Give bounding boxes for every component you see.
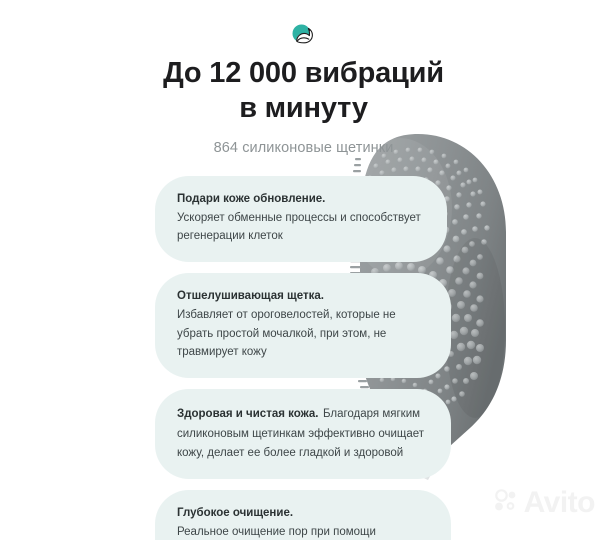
feature-body: Ускоряет обменные процессы и способствуе… [177,209,425,246]
feature-card: Глубокое очищение. Реальное очищение пор… [155,490,451,540]
swan-logo-icon [289,22,319,50]
header: До 12 000 вибраций в минуту 864 силиконо… [0,0,607,156]
feature-title: Глубокое очищение. [177,505,429,523]
avito-watermark-label: Avito [524,488,595,518]
feature-list: Подари коже обновление. Ускоряет обменны… [155,176,451,540]
page-subtitle: 864 силиконовые щетинки [0,140,607,156]
headline-line-1: До 12 000 вибраций [89,56,519,91]
avito-watermark: Avito [494,488,595,518]
feature-title: Подари коже обновление. [177,191,425,209]
feature-title: Здоровая и чистая кожа. [177,408,319,420]
product-infographic-page: До 12 000 вибраций в минуту 864 силиконо… [0,0,607,540]
headline-line-2: в минуту [89,91,519,126]
avito-logo-icon [494,489,520,518]
feature-title: Отшелушивающая щетка. [177,288,429,306]
page-title: До 12 000 вибраций в минуту [89,56,519,127]
feature-card: Подари коже обновление. Ускоряет обменны… [155,176,447,262]
feature-card: Отшелушивающая щетка. Избавляет от орого… [155,273,451,378]
feature-body: Избавляет от ороговелостей, которые не у… [177,306,429,362]
feature-card: Здоровая и чистая кожа. Благодаря мягким… [155,389,451,479]
feature-body: Реальное очищение пор при помощи встроен… [177,523,429,540]
